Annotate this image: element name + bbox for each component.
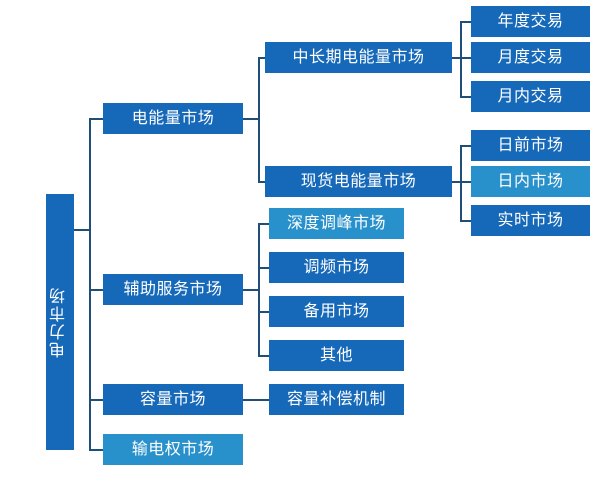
node-annual-trade[interactable]: 年度交易 <box>471 6 590 37</box>
connector-to-capacity-market <box>89 399 104 401</box>
node-dayahead-market[interactable]: 日前市场 <box>471 130 590 161</box>
connector-root-stub <box>74 229 90 231</box>
node-frequency-regulation-market[interactable]: 调频市场 <box>269 252 404 283</box>
connector-to-electricity-energy-market <box>89 118 104 120</box>
connector-to-realtime-market <box>460 220 471 222</box>
connector-to-monthly-trade <box>460 57 471 59</box>
node-monthly-trade[interactable]: 月度交易 <box>471 42 590 73</box>
connector-capacity-to-compensation <box>243 399 269 401</box>
node-deep-peak-regulation-market[interactable]: 深度调峰市场 <box>269 208 404 239</box>
connector-to-frequency-market <box>258 267 269 269</box>
connector-to-intramonth-trade <box>460 96 471 98</box>
node-realtime-market[interactable]: 实时市场 <box>471 205 590 236</box>
connector-ancillary-stub <box>243 289 259 291</box>
connector-to-deep-peak-market <box>258 223 269 225</box>
connector-to-reserve-market <box>258 311 269 313</box>
node-other-ancillary[interactable]: 其他 <box>269 340 404 371</box>
connector-to-annual-trade <box>460 21 471 23</box>
node-capacity-compensation-mechanism[interactable]: 容量补偿机制 <box>269 384 404 415</box>
power-market-tree-diagram: 电力市场 电能量市场 辅助服务市场 容量市场 输电权市场 中长期电能量市场 现货… <box>0 0 604 479</box>
connector-to-intraday-market <box>460 181 471 183</box>
connector-energy-market-stub <box>243 118 259 120</box>
connector-to-ancillary-service-market <box>89 289 104 291</box>
connector-to-other-market <box>258 355 269 357</box>
node-transmission-right-market[interactable]: 输电权市场 <box>103 434 243 465</box>
node-midlong-term-energy-market[interactable]: 中长期电能量市场 <box>265 42 452 73</box>
node-spot-energy-market[interactable]: 现货电能量市场 <box>265 166 452 197</box>
connector-to-dayahead-market <box>460 145 471 147</box>
node-capacity-market[interactable]: 容量市场 <box>103 384 243 415</box>
connector-to-transmission-right-market <box>89 449 104 451</box>
node-electricity-energy-market[interactable]: 电能量市场 <box>103 103 243 134</box>
node-reserve-market[interactable]: 备用市场 <box>269 296 404 327</box>
node-root-power-market[interactable]: 电力市场 <box>46 194 74 450</box>
connector-energy-market-spine <box>258 58 260 182</box>
node-intramonth-trade[interactable]: 月内交易 <box>471 81 590 112</box>
node-ancillary-service-market[interactable]: 辅助服务市场 <box>103 274 243 305</box>
connector-spot-market-spine <box>460 146 462 222</box>
connector-ancillary-spine <box>258 224 260 356</box>
node-intraday-market[interactable]: 日内市场 <box>471 166 590 197</box>
connector-midlong-term-spine <box>460 22 462 98</box>
